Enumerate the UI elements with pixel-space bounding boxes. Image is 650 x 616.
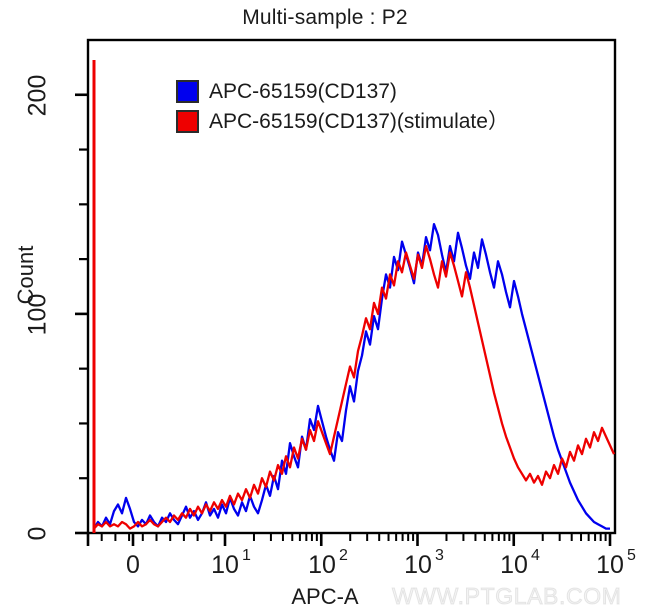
legend: APC-65159(CD137) APC-65159(CD137)(stimul… [176, 78, 509, 135]
legend-item-stimulated: APC-65159(CD137)(stimulate） [176, 108, 509, 135]
legend-label-unstimulated: APC-65159(CD137) [209, 81, 397, 102]
legend-item-unstimulated: APC-65159(CD137) [176, 78, 509, 105]
legend-swatch-blue-icon [176, 80, 199, 103]
svg-text:3: 3 [435, 547, 444, 564]
svg-text:4: 4 [531, 547, 540, 564]
legend-swatch-red-icon [176, 110, 199, 133]
x-axis-title: APC-A [0, 584, 650, 610]
flow-cytometry-histogram-figure: Multi-sample : P2 0101102103104105 0 100… [0, 0, 650, 616]
svg-text:1: 1 [242, 547, 251, 564]
y-tick-label-200: 200 [24, 65, 53, 125]
legend-label-stimulated: APC-65159(CD137)(stimulate） [209, 111, 509, 132]
y-axis-title: Count [13, 220, 39, 330]
axis-ticks [75, 95, 610, 546]
svg-text:5: 5 [627, 547, 636, 564]
svg-text:10: 10 [308, 551, 336, 579]
svg-text:2: 2 [339, 547, 348, 564]
svg-text:0: 0 [126, 551, 140, 579]
svg-text:10: 10 [211, 551, 239, 579]
x-tick-labels: 0101102103104105 [126, 547, 636, 579]
y-tick-label-0: 0 [24, 504, 53, 564]
svg-text:10: 10 [500, 551, 528, 579]
svg-text:10: 10 [596, 551, 624, 579]
svg-text:10: 10 [404, 551, 432, 579]
